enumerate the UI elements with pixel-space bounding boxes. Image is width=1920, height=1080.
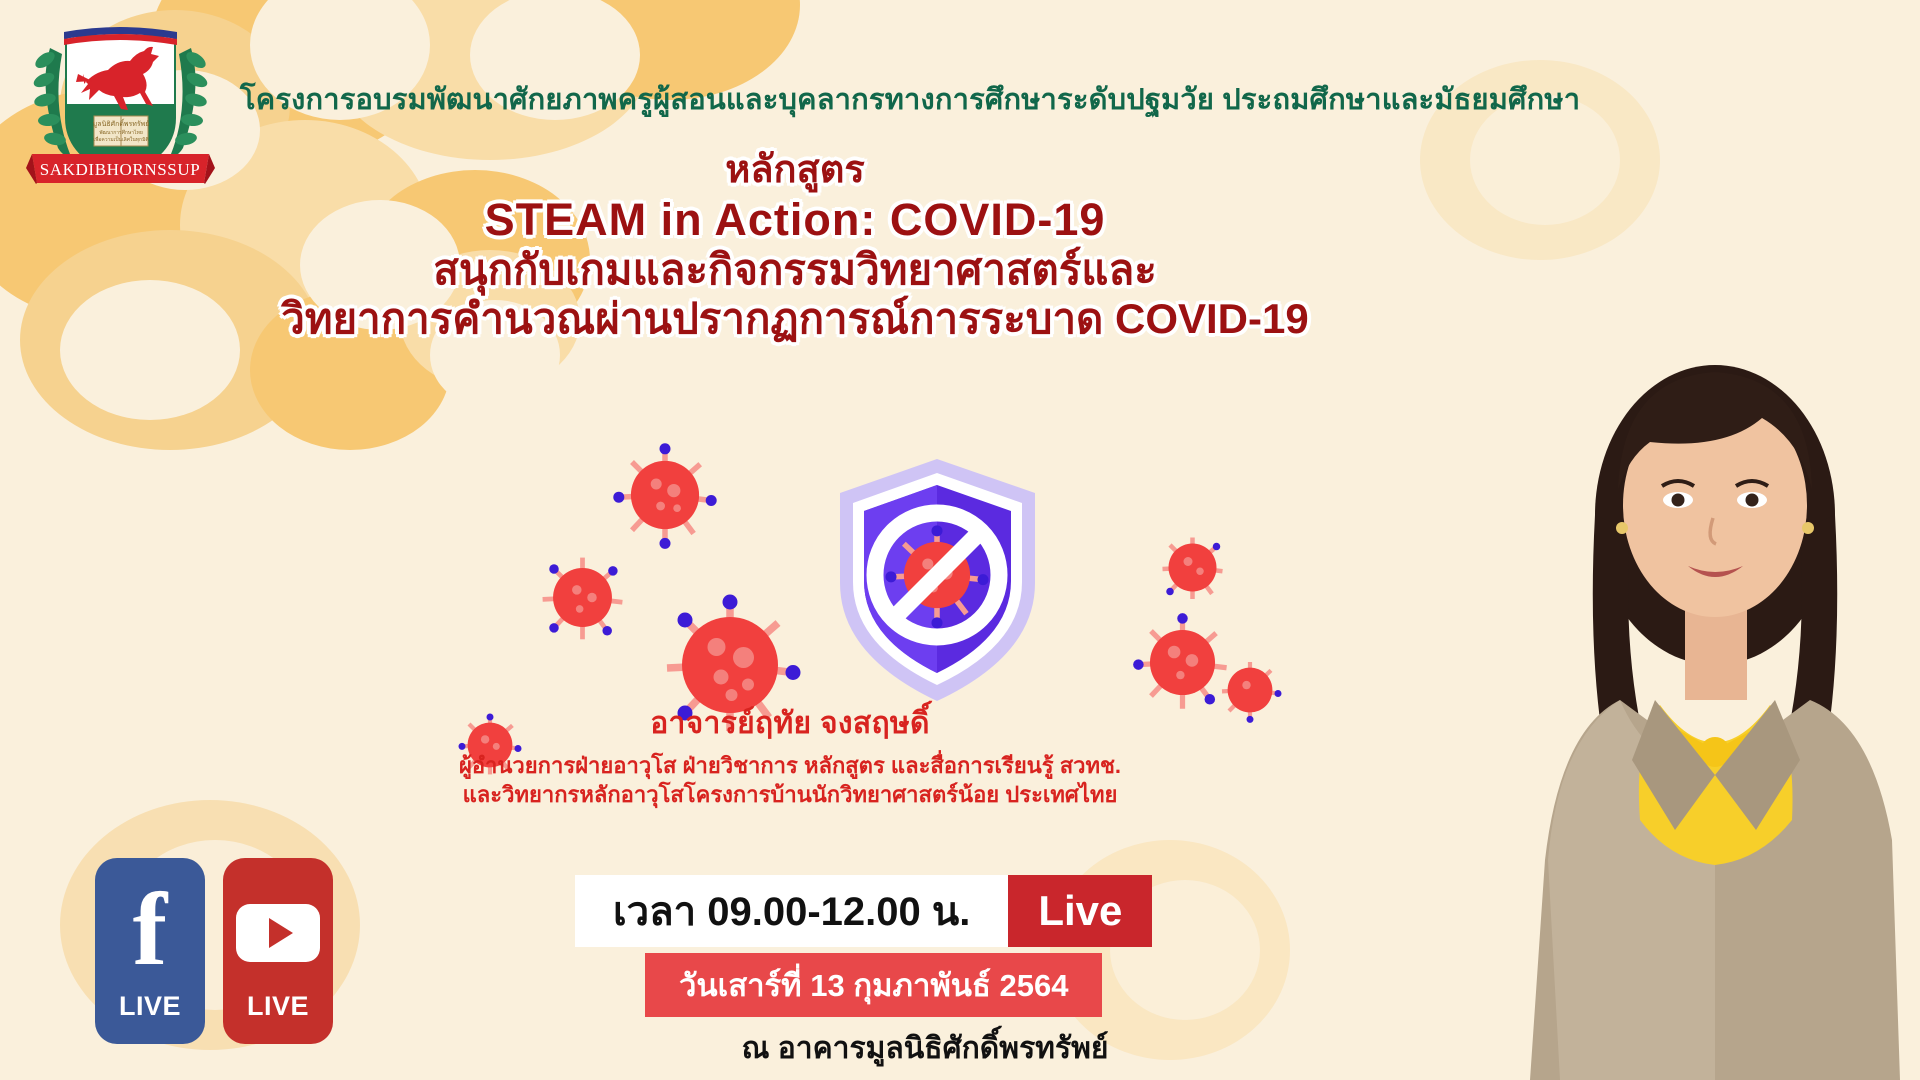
speaker-portrait (1500, 300, 1920, 1080)
title-line-curriculum: หลักสูตร (240, 148, 1350, 192)
header-program-title: โครงการอบรมพัฒนาศักยภาพครูผู้สอนและบุคลา… (240, 76, 1890, 122)
coronavirus-icon (1215, 655, 1285, 730)
event-date-label: วันเสาร์ที่ 13 กุมภาพันธ์ 2564 (645, 953, 1102, 1017)
youtube-play-icon (236, 904, 320, 962)
event-venue-label: ณ อาคารมูลนิธิศักดิ์พรทรัพย์ (575, 1025, 1275, 1072)
facebook-icon: f (133, 886, 168, 974)
title-line-subtitle-2: วิทยาการคำนวณผ่านปรากฏการณ์การระบาด COVI… (240, 295, 1350, 344)
youtube-live-button[interactable]: LIVE (223, 858, 333, 1044)
title-line-subtitle-1: สนุกกับเกมและกิจกรรมวิทยาศาสตร์และ (240, 246, 1350, 295)
poster-canvas: มูลนิธิศักดิ์พรทรัพย์ พัฒนาการศึกษาไทย เ… (0, 0, 1920, 1080)
title-line-course-name: STEAM in Action: COVID-19 (240, 194, 1350, 246)
covid-shield-protection-icon (830, 455, 1045, 710)
coronavirus-icon (610, 440, 720, 555)
school-crest-logo: มูลนิธิศักดิ์พรทรัพย์ พัฒนาการศึกษาไทย เ… (18, 8, 223, 193)
speaker-role-line-1: ผู้อำนวยการฝ่ายอาวุโส ฝ่ายวิชาการ หลักสู… (430, 751, 1150, 780)
facebook-live-button[interactable]: f LIVE (95, 858, 205, 1044)
event-time-label: เวลา 09.00-12.00 น. (575, 875, 1008, 947)
social-live-buttons: f LIVE LIVE (95, 858, 333, 1044)
schedule-time-row: เวลา 09.00-12.00 น. Live (575, 875, 1152, 947)
crest-banner-text: SAKDIBHORNSSUP (40, 160, 201, 179)
speaker-role-line-2: และวิทยากรหลักอาวุโสโครงการบ้านนักวิทยาศ… (430, 780, 1150, 809)
speaker-name: อาจารย์ฤทัย จงสฤษดิ์ (430, 700, 1150, 747)
youtube-live-label: LIVE (223, 991, 333, 1022)
svg-text:พัฒนาการศึกษาไทย: พัฒนาการศึกษาไทย (99, 129, 143, 136)
coronavirus-icon (535, 550, 630, 650)
live-badge: Live (1008, 875, 1152, 947)
speaker-info-block: อาจารย์ฤทัย จงสฤษดิ์ ผู้อำนวยการฝ่ายอาวุ… (430, 700, 1150, 810)
facebook-live-label: LIVE (95, 991, 205, 1022)
course-title-block: หลักสูตร STEAM in Action: COVID-19 สนุกก… (240, 148, 1350, 344)
svg-text:เพื่อความเป็นเลิศในทุกมิติ: เพื่อความเป็นเลิศในทุกมิติ (93, 135, 148, 143)
coronavirus-icon (1155, 530, 1230, 610)
